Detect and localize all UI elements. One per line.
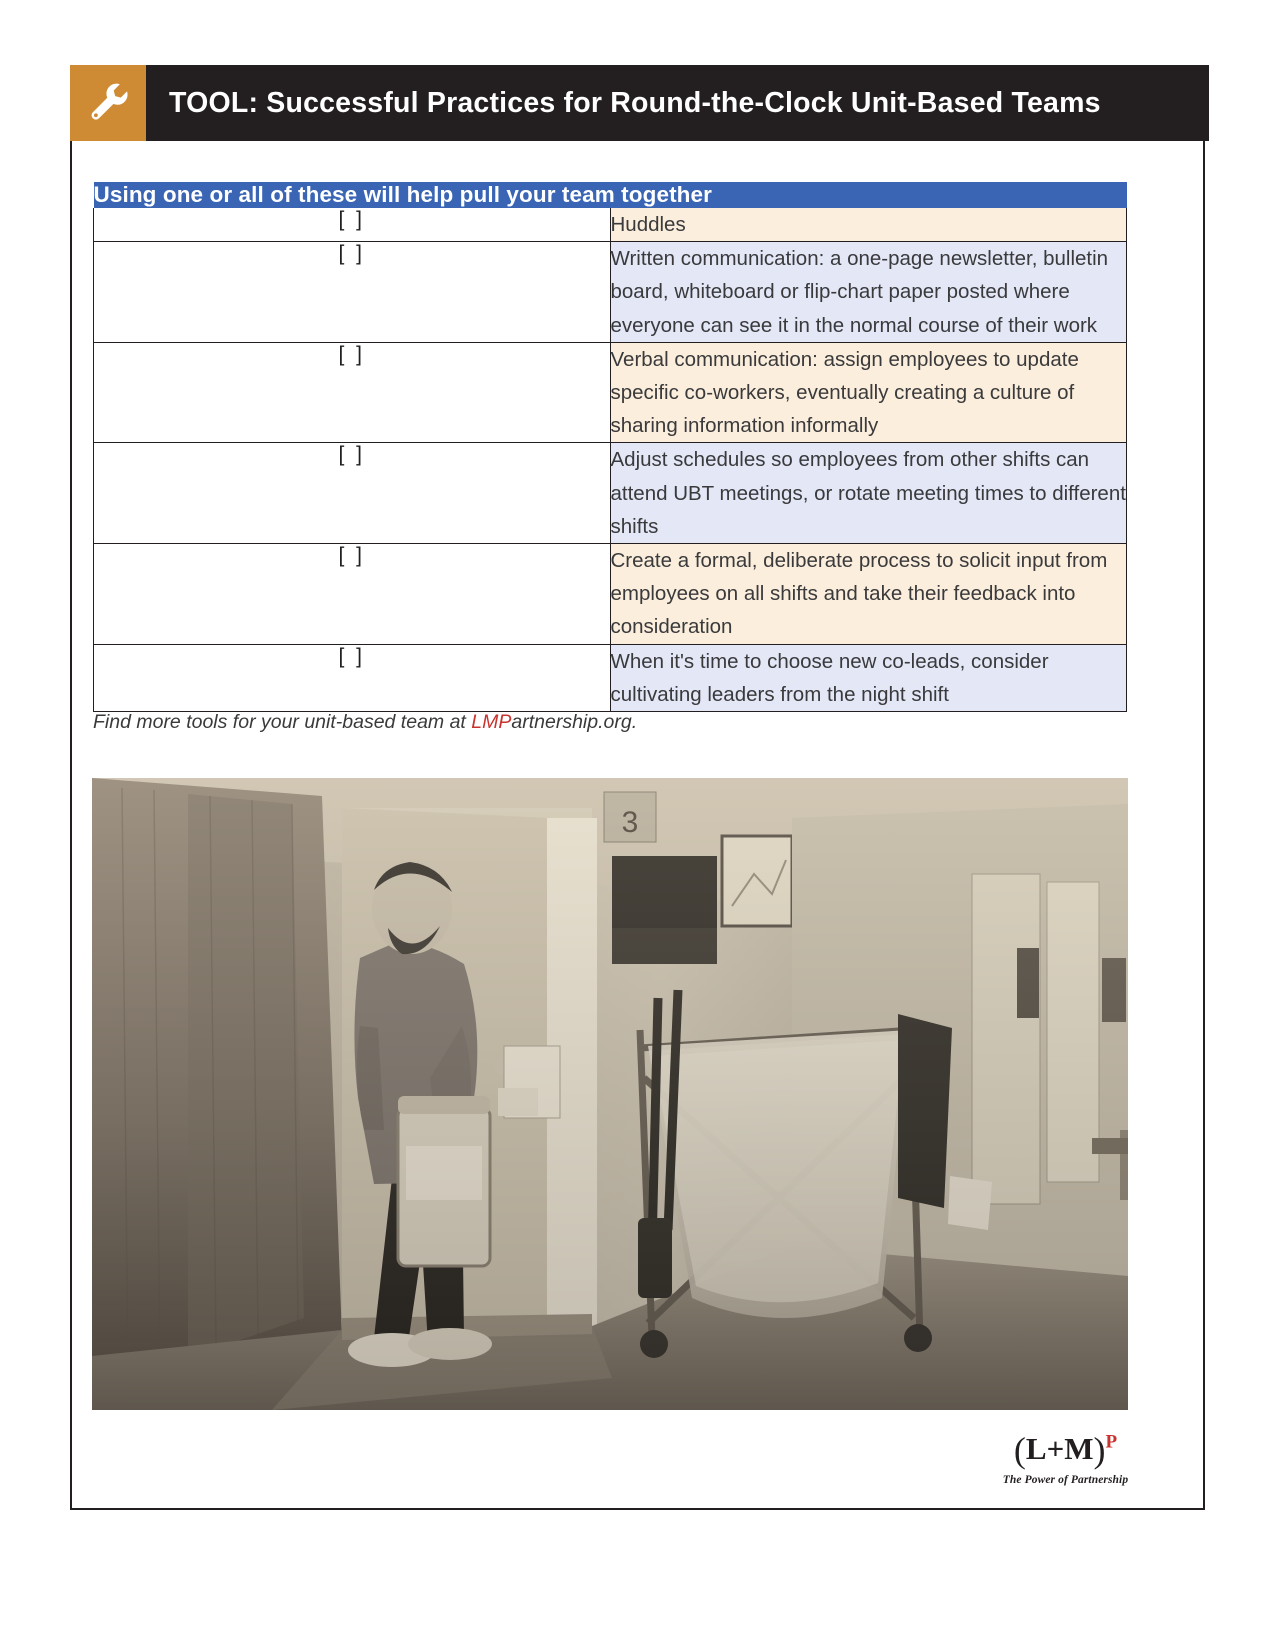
practice-text: Verbal communication: assign employees t… — [610, 342, 1127, 443]
lmp-logo: (L+M)P The Power of Partnership — [998, 1432, 1133, 1486]
logo-paren-open: ( — [1014, 1430, 1026, 1470]
practice-text: Written communication: a one-page newsle… — [610, 242, 1127, 343]
table-row: [ ] Verbal communication: assign employe… — [94, 342, 1127, 443]
practice-text: Huddles — [610, 208, 1127, 242]
checkbox-cell[interactable]: [ ] — [94, 644, 611, 711]
hero-photo: 3 — [92, 778, 1128, 1410]
lmp-link-highlight[interactable]: LMP — [471, 711, 511, 733]
logo-superscript-p: P — [1106, 1432, 1118, 1453]
table-heading: Using one or all of these will help pull… — [94, 182, 1127, 208]
table-header-row: Using one or all of these will help pull… — [94, 182, 1127, 208]
wrench-icon — [70, 65, 146, 141]
logo-mark: (L+M)P — [998, 1432, 1133, 1468]
table-body: [ ] Huddles [ ] Written communication: a… — [94, 208, 1127, 712]
table-row: [ ] Huddles — [94, 208, 1127, 242]
practice-text: Create a formal, deliberate process to s… — [610, 544, 1127, 645]
logo-letters: L+M — [1026, 1431, 1094, 1466]
page-title: TOOL: Successful Practices for Round-the… — [146, 65, 1101, 141]
document-header: TOOL: Successful Practices for Round-the… — [70, 65, 1209, 141]
checkbox-cell[interactable]: [ ] — [94, 544, 611, 645]
table-row: [ ] Written communication: a one-page ne… — [94, 242, 1127, 343]
logo-tagline: The Power of Partnership — [998, 1474, 1133, 1486]
table-row: [ ] When it's time to choose new co-lead… — [94, 644, 1127, 711]
note-prefix: Find more tools for your unit-based team… — [93, 711, 471, 733]
logo-paren-close: ) — [1094, 1430, 1106, 1470]
find-more-tools-note: Find more tools for your unit-based team… — [93, 711, 637, 734]
checkbox-cell[interactable]: [ ] — [94, 342, 611, 443]
practices-table: Using one or all of these will help pull… — [93, 182, 1127, 712]
checkbox-cell[interactable]: [ ] — [94, 443, 611, 544]
checkbox-cell[interactable]: [ ] — [94, 208, 611, 242]
table-row: [ ] Create a formal, deliberate process … — [94, 544, 1127, 645]
table-row: [ ] Adjust schedules so employees from o… — [94, 443, 1127, 544]
lmp-link-rest[interactable]: artnership.org. — [511, 711, 637, 733]
practice-text: Adjust schedules so employees from other… — [610, 443, 1127, 544]
practice-text: When it's time to choose new co-leads, c… — [610, 644, 1127, 711]
checkbox-cell[interactable]: [ ] — [94, 242, 611, 343]
